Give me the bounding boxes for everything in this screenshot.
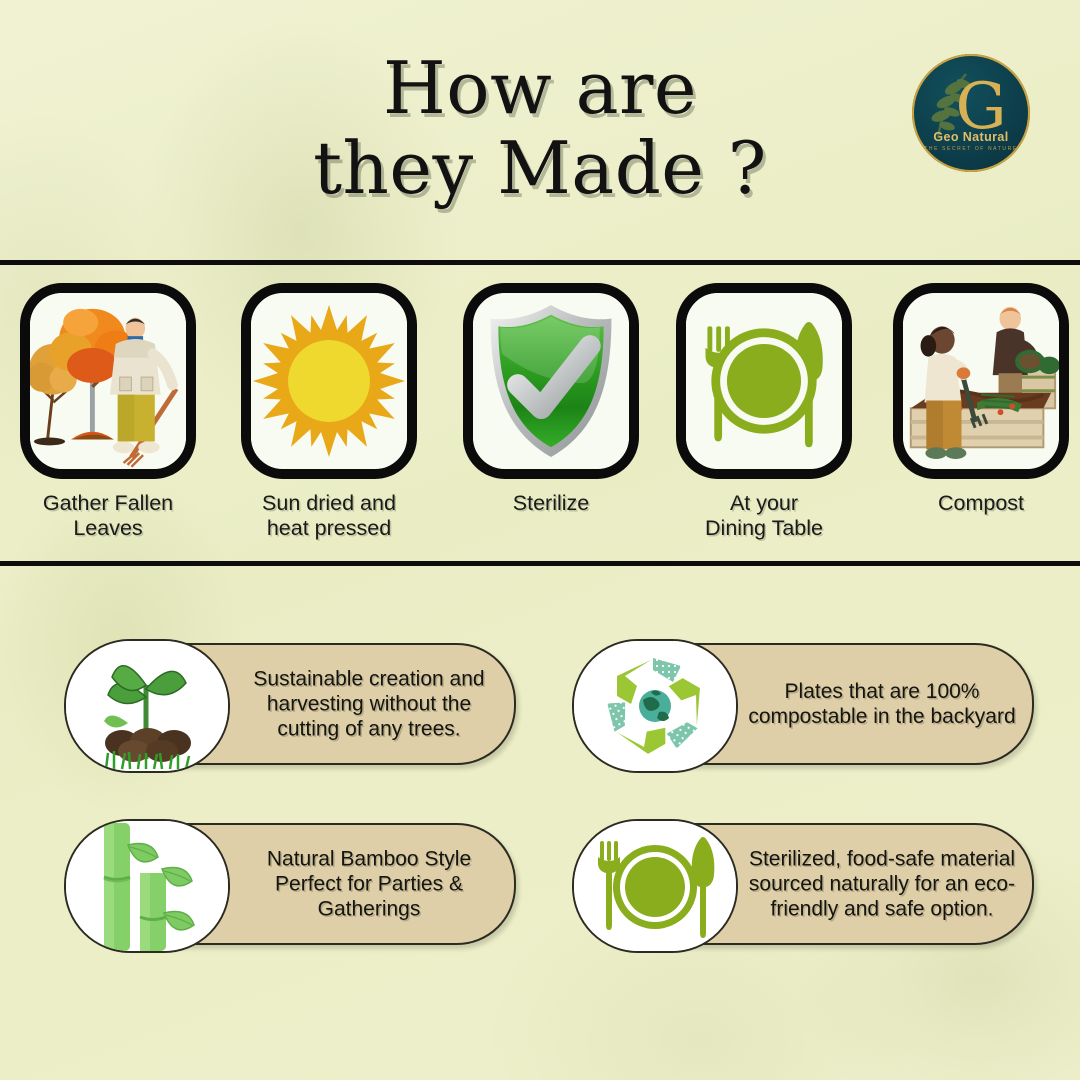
- step-dining-table: At your Dining Table: [666, 283, 862, 541]
- bamboo-icon: [66, 821, 228, 951]
- benefit-card-compostable: Plates that are 100% compostable in the …: [578, 643, 1034, 765]
- step-icon-tile: [241, 283, 417, 479]
- benefit-card-bamboo: Natural Bamboo Style Perfect for Parties…: [70, 823, 516, 945]
- logo-name: Geo Natural: [912, 130, 1030, 144]
- sun-icon: [251, 293, 407, 469]
- autumn-tree-raking-icon: [30, 293, 186, 469]
- benefit-text: Sustainable creation and harvesting with…: [240, 667, 498, 742]
- infographic-page: How are they Made ? G Geo Natural The Se…: [0, 0, 1080, 1080]
- step-label: At your Dining Table: [666, 491, 862, 541]
- step-icon-tile: [676, 283, 852, 479]
- step-icon-tile: [893, 283, 1069, 479]
- benefit-icon-panel: [64, 819, 230, 953]
- step-label: Sun dried and heat pressed: [231, 491, 427, 541]
- page-title-line-1: How are: [383, 46, 697, 130]
- step-gather-fallen-leaves: Gather Fallen Leaves: [10, 283, 206, 541]
- step-label: Gather Fallen Leaves: [10, 491, 206, 541]
- place-setting-icon: [574, 821, 736, 951]
- step-compost: Compost: [883, 283, 1079, 516]
- step-icon-tile: [20, 283, 196, 479]
- step-label: Sterilize: [453, 491, 649, 516]
- shield-check-icon: [473, 293, 629, 469]
- benefit-card-sustainable: Sustainable creation and harvesting with…: [70, 643, 516, 765]
- seedling-icon: [66, 641, 228, 771]
- benefit-card-food-safe: Sterilized, food-safe material sourced n…: [578, 823, 1034, 945]
- step-sun-dried: Sun dried and heat pressed: [231, 283, 427, 541]
- benefit-text: Plates that are 100% compostable in the …: [748, 679, 1016, 729]
- benefit-icon-panel: [572, 639, 738, 773]
- benefit-icon-panel: [64, 639, 230, 773]
- divider-top: [0, 260, 1080, 265]
- brand-logo: G Geo Natural The Secret of Nature: [912, 54, 1030, 172]
- process-steps: Gather Fallen Leaves: [0, 283, 1080, 553]
- step-label: Compost: [883, 491, 1079, 516]
- place-setting-icon: [686, 293, 842, 469]
- step-icon-tile: [463, 283, 639, 479]
- benefit-text: Sterilized, food-safe material sourced n…: [748, 847, 1016, 922]
- divider-bottom: [0, 561, 1080, 566]
- compost-bed-icon: [903, 293, 1059, 469]
- logo-tagline: The Secret of Nature: [912, 146, 1030, 152]
- benefit-text: Natural Bamboo Style Perfect for Parties…: [240, 847, 498, 922]
- benefit-icon-panel: [572, 819, 738, 953]
- recycle-globe-icon: [574, 641, 736, 771]
- step-sterilize: Sterilize: [453, 283, 649, 516]
